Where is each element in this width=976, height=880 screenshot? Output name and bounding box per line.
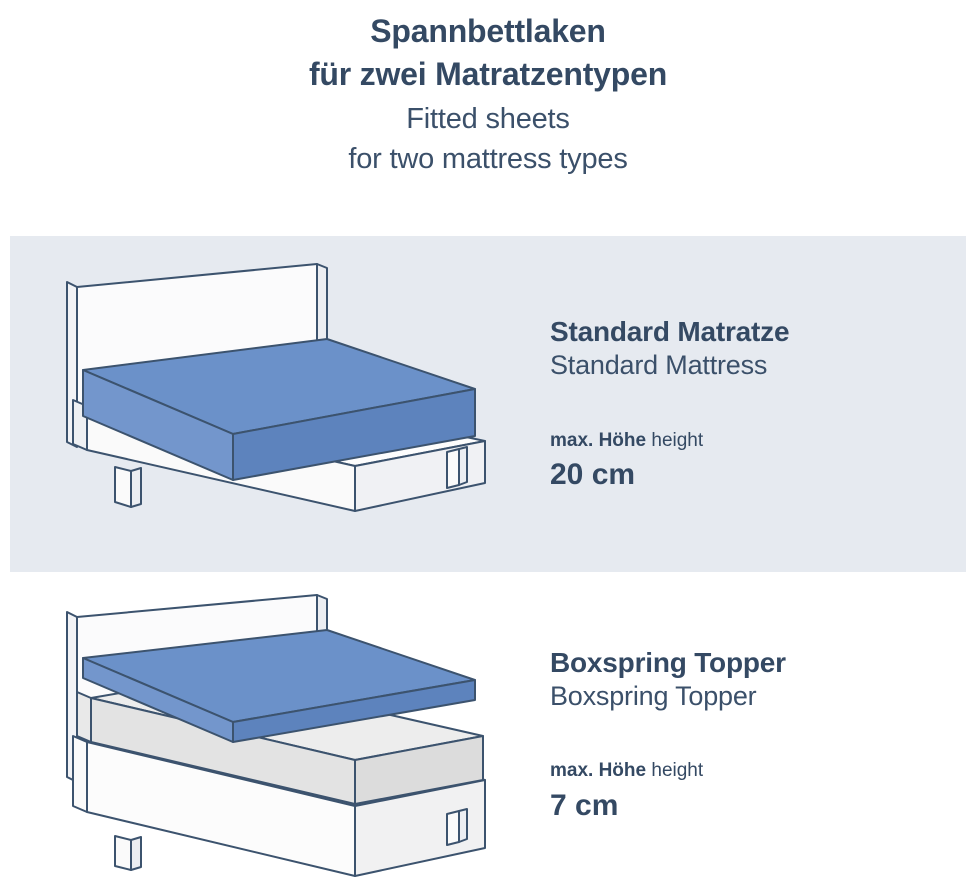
standard-mattress-info: Standard Matratze Standard Mattress max.… (540, 314, 966, 494)
standard-max-height-value: 20 cm (550, 456, 966, 494)
page-title-en-line1: Fitted sheets (0, 100, 976, 139)
section-standard-mattress: Standard Matratze Standard Mattress max.… (10, 236, 966, 572)
standard-mattress-bed-illustration (55, 254, 495, 554)
page-title-en-line2: for two mattress types (0, 140, 976, 179)
standard-mattress-figure (10, 254, 540, 554)
standard-max-height-label: max. Höhe height (550, 429, 966, 454)
boxspring-topper-bed-illustration (55, 590, 495, 880)
page-title-en: Fitted sheets for two mattress types (0, 100, 976, 178)
standard-info-spacer (550, 383, 966, 429)
page-title-de: Spannbettlaken für zwei Matratzentypen (0, 10, 976, 96)
boxspring-max-height-label: max. Höhe height (550, 759, 966, 784)
boxspring-heading-en: Boxspring Topper (550, 680, 966, 714)
page-title-de-line1: Spannbettlaken (0, 10, 976, 53)
boxspring-topper-info: Boxspring Topper Boxspring Topper max. H… (540, 645, 966, 825)
standard-max-label-en: height (651, 430, 703, 451)
page-title-de-line2: für zwei Matratzentypen (0, 53, 976, 96)
page-header: Spannbettlaken für zwei Matratzentypen F… (0, 0, 976, 179)
standard-max-label-de: max. Höhe (550, 430, 646, 451)
boxspring-max-label-en: height (651, 760, 703, 781)
section-boxspring-topper: Boxspring Topper Boxspring Topper max. H… (10, 590, 966, 879)
boxspring-heading-de: Boxspring Topper (550, 645, 966, 680)
standard-heading-en: Standard Mattress (550, 349, 966, 383)
boxspring-info-spacer (550, 713, 966, 759)
boxspring-max-height-value: 7 cm (550, 787, 966, 825)
boxspring-topper-figure (10, 590, 540, 880)
boxspring-max-label-de: max. Höhe (550, 760, 646, 781)
standard-heading-de: Standard Matratze (550, 314, 966, 349)
